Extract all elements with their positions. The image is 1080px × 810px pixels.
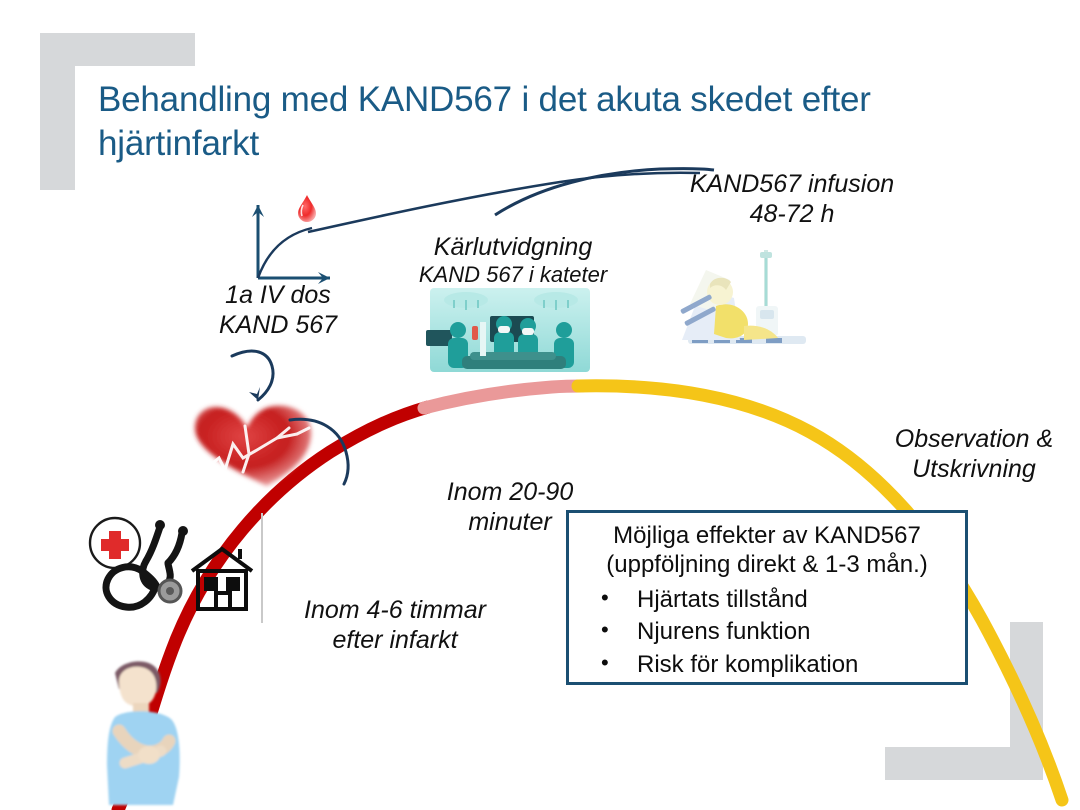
label-iv-dose: 1a IV dos KAND 567 bbox=[188, 281, 368, 340]
list-item: Risk för komplikation bbox=[595, 649, 965, 682]
callout-box-possible-effects: Möjliga effekter av KAND567 (uppföljning… bbox=[566, 510, 968, 685]
label-catheter-line2: KAND 567 i kateter bbox=[388, 262, 638, 288]
label-infusion: KAND567 infusion 48-72 h bbox=[652, 170, 932, 229]
slide-canvas: Behandling med KAND567 i det akuta skede… bbox=[0, 0, 1080, 810]
callout-heading: Möjliga effekter av KAND567 (uppföljning… bbox=[569, 521, 965, 580]
list-item: Hjärtats tillstånd bbox=[595, 584, 965, 617]
pk-curve-axis-icon bbox=[252, 205, 330, 284]
label-within-4-6-hours: Inom 4-6 timmar efter infarkt bbox=[280, 596, 510, 655]
arrow-heart-to-catheter bbox=[290, 419, 348, 484]
annotation-arrows bbox=[0, 0, 1080, 810]
label-observation-discharge: Observation & Utskrivning bbox=[874, 425, 1074, 484]
label-catheter: Kärlutvidgning KAND 567 i kateter bbox=[388, 203, 638, 317]
arrow-dose-to-heart bbox=[232, 351, 273, 400]
list-item: Njurens funktion bbox=[595, 616, 965, 649]
label-catheter-line1: Kärlutvidgning bbox=[434, 233, 592, 261]
callout-list: Hjärtats tillstånd Njurens funktion Risk… bbox=[569, 584, 965, 682]
